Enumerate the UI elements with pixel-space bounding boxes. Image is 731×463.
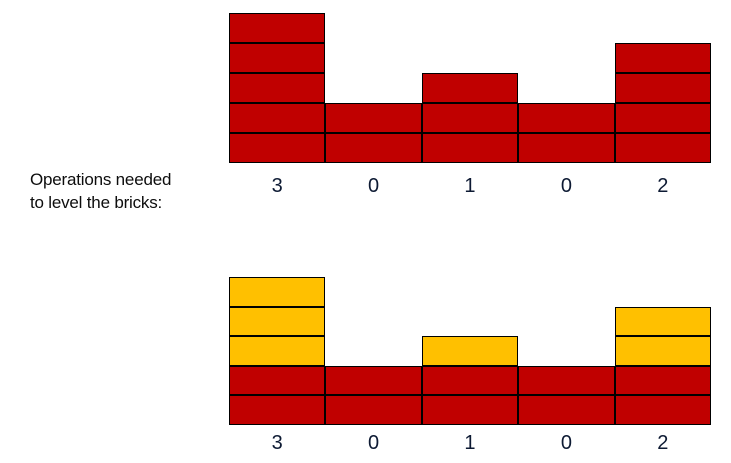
brick-red	[422, 73, 518, 103]
brick-red	[518, 366, 614, 396]
axis-tick-label: 0	[325, 175, 421, 198]
brick-column	[229, 277, 325, 425]
brick-columns-before	[229, 13, 711, 163]
axis-tick-label: 2	[615, 175, 711, 198]
brick-red	[615, 73, 711, 103]
axis-tick-label: 0	[325, 432, 421, 455]
brick-gold	[229, 307, 325, 337]
brick-red	[422, 133, 518, 163]
brick-red	[229, 395, 325, 425]
brick-gold	[422, 336, 518, 366]
brick-column	[325, 366, 421, 425]
brick-diagram-before	[229, 13, 711, 163]
brick-column	[325, 103, 421, 163]
brick-red	[615, 366, 711, 396]
brick-red	[615, 43, 711, 73]
diagram-canvas: Operations needed to level the bricks: 3…	[0, 0, 731, 463]
brick-red	[422, 366, 518, 396]
axis-tick-label: 0	[518, 432, 614, 455]
brick-red	[518, 133, 614, 163]
axis-tick-label: 3	[229, 175, 325, 198]
brick-red	[325, 366, 421, 396]
brick-red	[229, 366, 325, 396]
brick-red	[615, 133, 711, 163]
brick-red	[229, 73, 325, 103]
brick-red	[518, 103, 614, 133]
brick-red	[615, 395, 711, 425]
brick-red	[229, 103, 325, 133]
axis-labels-before: 30102	[229, 175, 711, 201]
brick-column	[615, 307, 711, 425]
brick-gold	[615, 336, 711, 366]
brick-column	[229, 13, 325, 163]
brick-column	[422, 336, 518, 425]
brick-gold	[229, 336, 325, 366]
brick-red	[518, 395, 614, 425]
axis-tick-label: 2	[615, 432, 711, 455]
brick-gold	[229, 277, 325, 307]
brick-red	[615, 103, 711, 133]
brick-red	[229, 43, 325, 73]
brick-columns-after	[229, 277, 711, 425]
axis-tick-label: 1	[422, 432, 518, 455]
caption-text: Operations needed to level the bricks:	[30, 168, 230, 214]
axis-labels-after: 30102	[229, 432, 711, 458]
brick-column	[422, 73, 518, 163]
brick-red	[325, 395, 421, 425]
axis-tick-label: 3	[229, 432, 325, 455]
brick-red	[422, 395, 518, 425]
brick-column	[518, 103, 614, 163]
brick-red	[325, 103, 421, 133]
brick-red	[325, 133, 421, 163]
axis-tick-label: 0	[518, 175, 614, 198]
brick-red	[229, 133, 325, 163]
brick-red	[229, 13, 325, 43]
brick-red	[422, 103, 518, 133]
brick-diagram-after	[229, 277, 711, 425]
brick-column	[615, 43, 711, 163]
brick-gold	[615, 307, 711, 337]
axis-tick-label: 1	[422, 175, 518, 198]
brick-column	[518, 366, 614, 425]
